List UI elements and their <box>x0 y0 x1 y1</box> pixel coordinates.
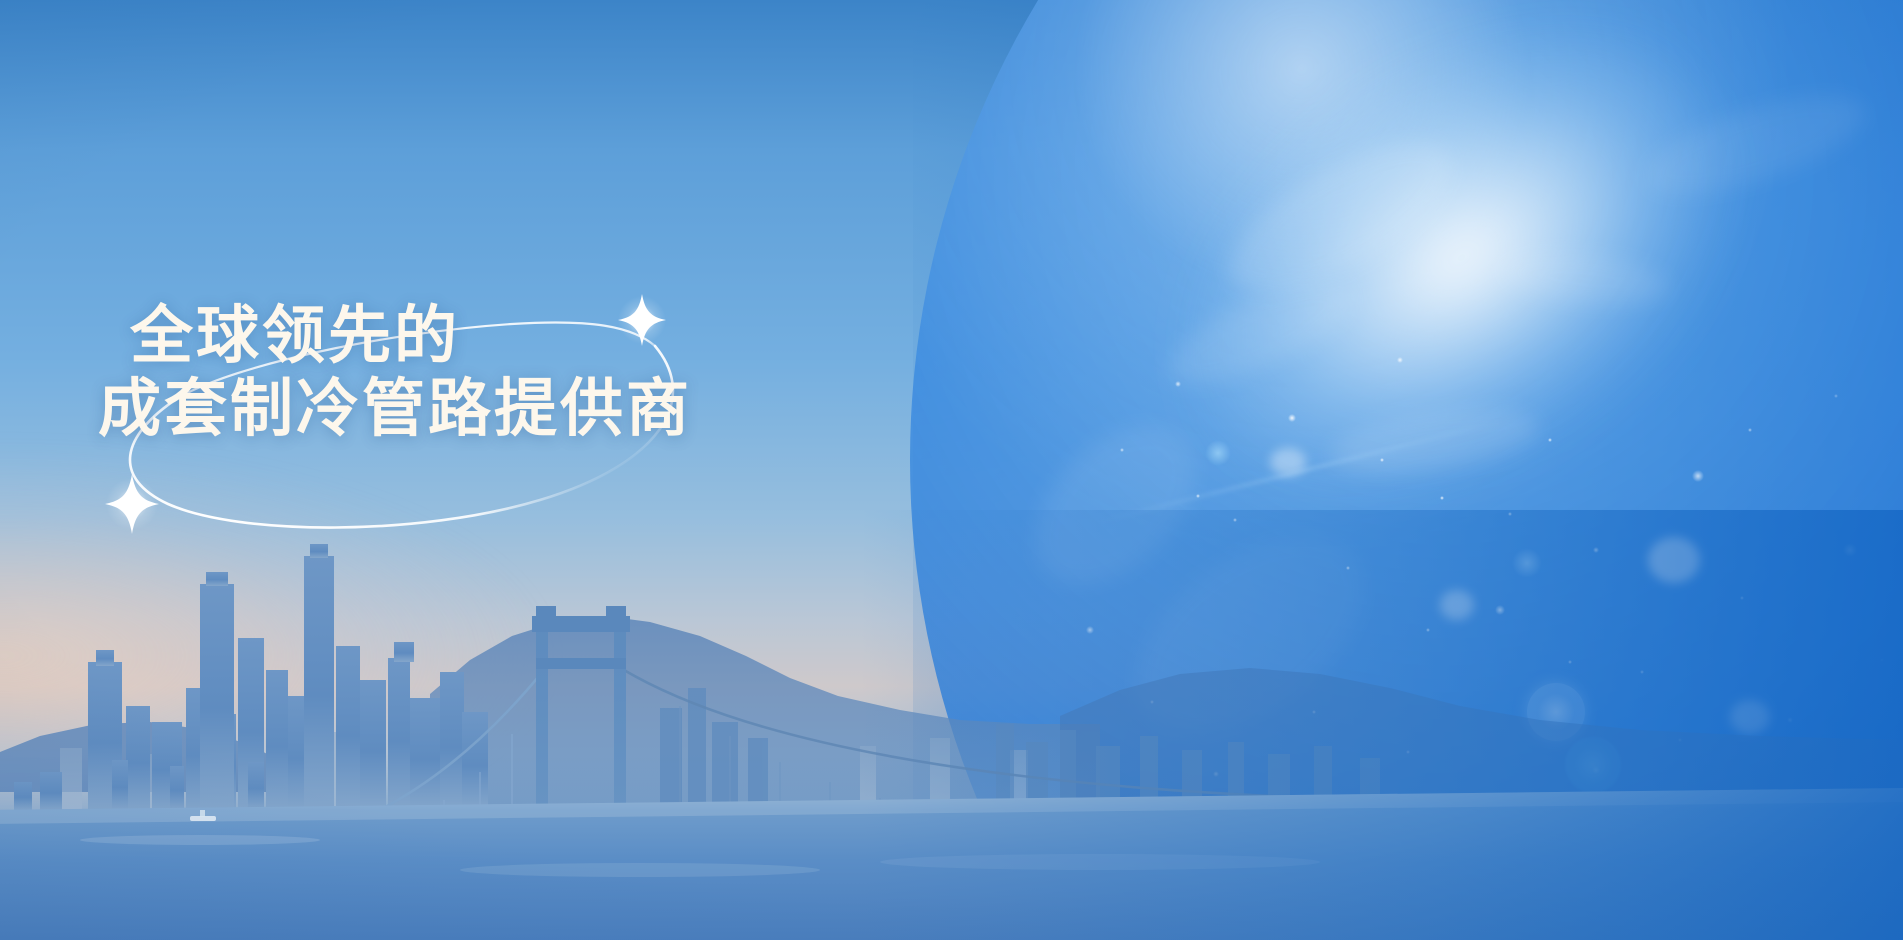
hero-headline: 全球领先的 成套制冷管路提供商 <box>98 300 858 446</box>
headline-line-2: 成套制冷管路提供商 <box>98 373 858 446</box>
city-landscape <box>0 510 1903 940</box>
hero-banner: 全球领先的 成套制冷管路提供商 <box>0 0 1903 940</box>
lens-flare-dot <box>1205 440 1231 466</box>
headline-line-1: 全球领先的 <box>130 300 858 373</box>
